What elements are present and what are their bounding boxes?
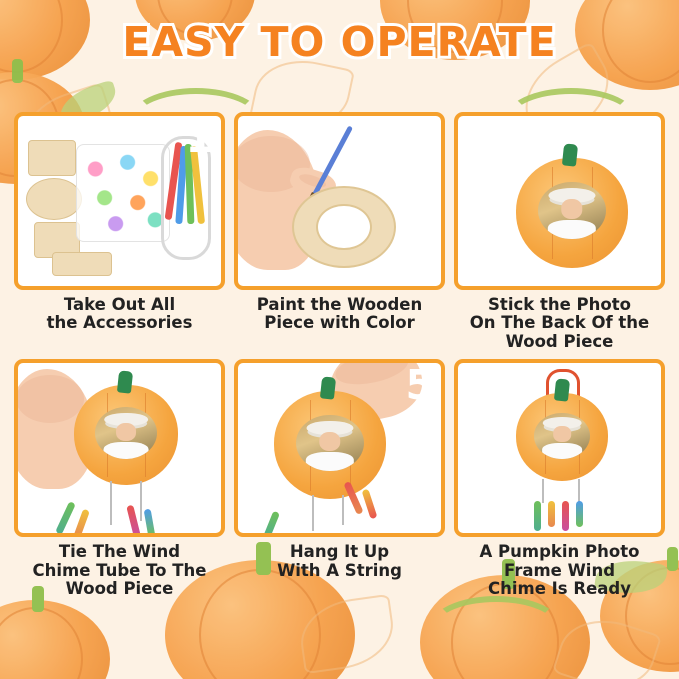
step-caption-3: Stick the Photo On The Back Of the Wood …: [454, 296, 665, 351]
caption-line: Frame Wind: [454, 562, 665, 580]
caption-line: Chime Tube To The: [14, 562, 225, 580]
caption-line: Stick the Photo: [454, 296, 665, 314]
caption-line: Take Out All: [14, 296, 225, 314]
step-card-2: 2 Paint the Wooden Piece with Color: [234, 112, 445, 351]
step-caption-2: Paint the Wooden Piece with Color: [234, 296, 445, 333]
caption-line: Wood Piece: [454, 333, 665, 351]
step-image-5: 5: [234, 359, 445, 537]
caption-line: Piece with Color: [234, 314, 445, 332]
caption-line: Chime Is Ready: [454, 580, 665, 598]
steps-grid: 1 Take Out All the Accessories 2 Paint t…: [14, 112, 665, 599]
page-title: EASY TO OPERATE: [0, 18, 679, 66]
caption-line: Wood Piece: [14, 580, 225, 598]
step-number-6: 6: [625, 365, 654, 406]
step-number-1: 1: [185, 118, 214, 159]
step-number-5: 5: [405, 365, 434, 406]
step-card-6: 6 A Pumpkin Photo Frame Wind Chime Is Re…: [454, 359, 665, 598]
step-image-6: 6: [454, 359, 665, 537]
step-image-wrapper-3: 3 Stick the Photo On The Back Of the Woo…: [454, 112, 665, 351]
step-image-1: 1: [14, 112, 225, 290]
step-image-3: 3: [454, 112, 665, 290]
step-number-4: 4: [185, 365, 214, 406]
step-caption-5: Hang It Up With A String: [234, 543, 445, 580]
step-card-4: 4 Tie The Wind Chime Tube To The Wood Pi…: [14, 359, 225, 598]
step-caption-4: Tie The Wind Chime Tube To The Wood Piec…: [14, 543, 225, 598]
step-image-2: 2: [234, 112, 445, 290]
step-card-1: 1 Take Out All the Accessories: [14, 112, 225, 351]
step-caption-1: Take Out All the Accessories: [14, 296, 225, 333]
caption-line: On The Back Of the: [454, 314, 665, 332]
step-number-3: 3: [625, 118, 654, 159]
caption-line: the Accessories: [14, 314, 225, 332]
product-infographic: EASY TO OPERATE 1 Take Out All: [0, 0, 679, 679]
caption-line: A Pumpkin Photo: [454, 543, 665, 561]
caption-line: Hang It Up: [234, 543, 445, 561]
step-number-2: 2: [405, 118, 434, 159]
caption-line: Paint the Wooden: [234, 296, 445, 314]
step-card-5: 5 Hang It Up With A String: [234, 359, 445, 598]
caption-line: Tie The Wind: [14, 543, 225, 561]
caption-line: With A String: [234, 562, 445, 580]
step-caption-6: A Pumpkin Photo Frame Wind Chime Is Read…: [454, 543, 665, 598]
step-image-4: 4: [14, 359, 225, 537]
